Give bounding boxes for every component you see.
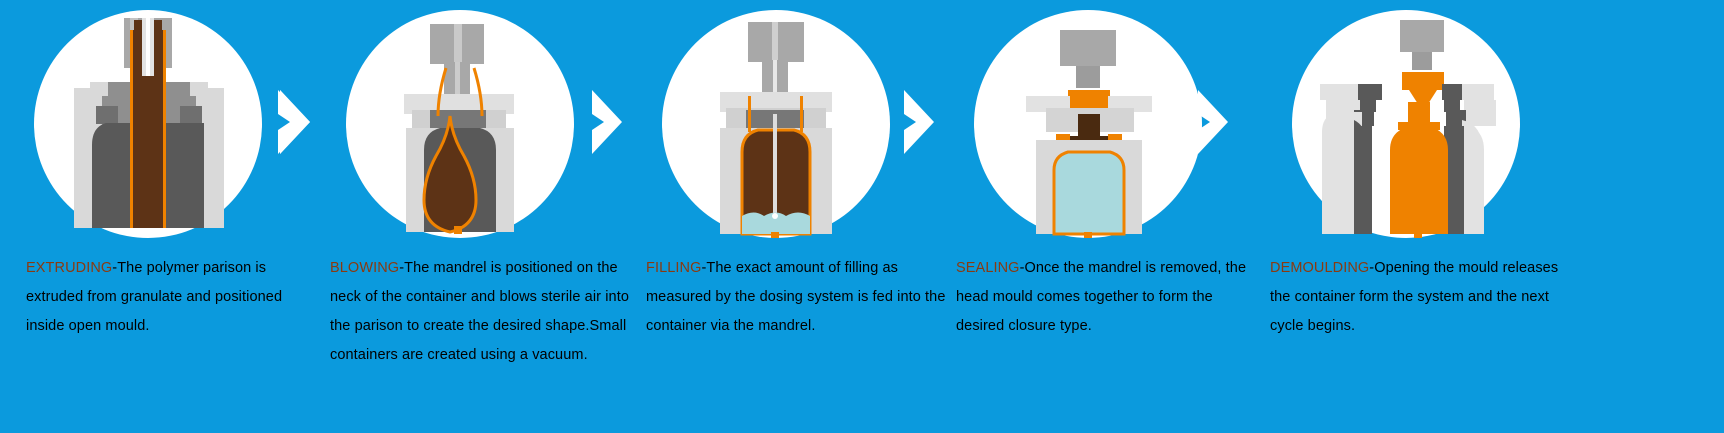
caption-keyword: FILLING	[646, 260, 702, 276]
process-step-sealing: SEALING-Once the mandrel is removed, the…	[952, 0, 1262, 433]
process-step-blowing: BLOWING-The mandrel is positioned on the…	[330, 0, 640, 433]
caption-demoulding: DEMOULDING-Opening the mould releases th…	[1270, 254, 1576, 341]
caption-filling: FILLING-The exact amount of filling as m…	[646, 254, 946, 341]
filling-illustration	[662, 10, 890, 238]
arrow-2-to-3	[590, 88, 646, 156]
process-step-filling: FILLING-The exact amount of filling as m…	[642, 0, 952, 433]
arrow-1-to-2	[276, 88, 332, 156]
arrow-3-to-4	[902, 88, 958, 156]
caption-keyword: SEALING	[956, 260, 1020, 276]
arrow-4-to-5	[1196, 88, 1252, 156]
blowing-illustration	[346, 10, 574, 238]
caption-keyword: DEMOULDING	[1270, 260, 1369, 276]
process-step-extruding: EXTRUDING-The polymer parison is extrude…	[18, 0, 328, 433]
caption-sealing: SEALING-Once the mandrel is removed, the…	[956, 254, 1262, 341]
bfs-process-infographic: EXTRUDING-The polymer parison is extrude…	[0, 0, 1724, 433]
caption-blowing: BLOWING-The mandrel is positioned on the…	[330, 254, 630, 370]
caption-keyword: EXTRUDING	[26, 260, 112, 276]
caption-extruding: EXTRUDING-The polymer parison is extrude…	[26, 254, 316, 341]
sealing-illustration	[974, 10, 1202, 238]
process-step-demoulding: DEMOULDING-Opening the mould releases th…	[1266, 0, 1576, 433]
demoulding-illustration	[1292, 10, 1520, 238]
caption-keyword: BLOWING	[330, 260, 399, 276]
extruding-illustration	[34, 10, 262, 238]
